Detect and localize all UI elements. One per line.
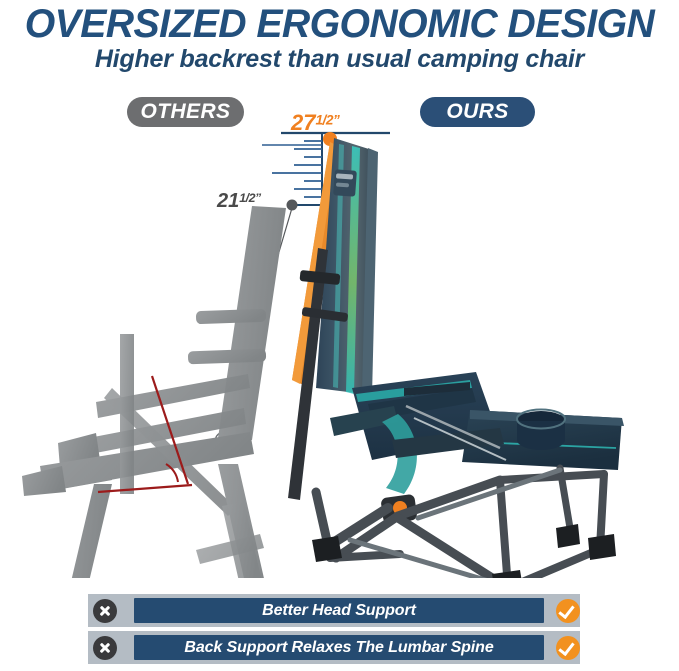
cross-icon [93, 636, 117, 660]
ours-chair [288, 138, 624, 578]
page-subtitle: Higher backrest than usual camping chair [0, 44, 679, 74]
chair-illustration-svg [0, 88, 679, 578]
check-icon [556, 599, 580, 623]
cross-icon [93, 599, 117, 623]
chair-comparison-illustration [0, 88, 679, 578]
page-title: OVERSIZED ERGONOMIC DESIGN [7, 2, 672, 46]
ours-chair-frame [316, 468, 604, 578]
check-icon [556, 636, 580, 660]
comparison-row-label: Better Head Support [134, 598, 544, 623]
infographic-page: OVERSIZED ERGONOMIC DESIGN Higher backre… [0, 0, 679, 671]
feature-comparison-list: Better Head Support Back Support Relaxes… [88, 594, 580, 668]
others-chair-silhouette [22, 206, 286, 578]
comparison-row-label: Back Support Relaxes The Lumbar Spine [134, 635, 544, 660]
comparison-row: Better Head Support [88, 594, 580, 627]
comparison-row: Back Support Relaxes The Lumbar Spine [88, 631, 580, 664]
